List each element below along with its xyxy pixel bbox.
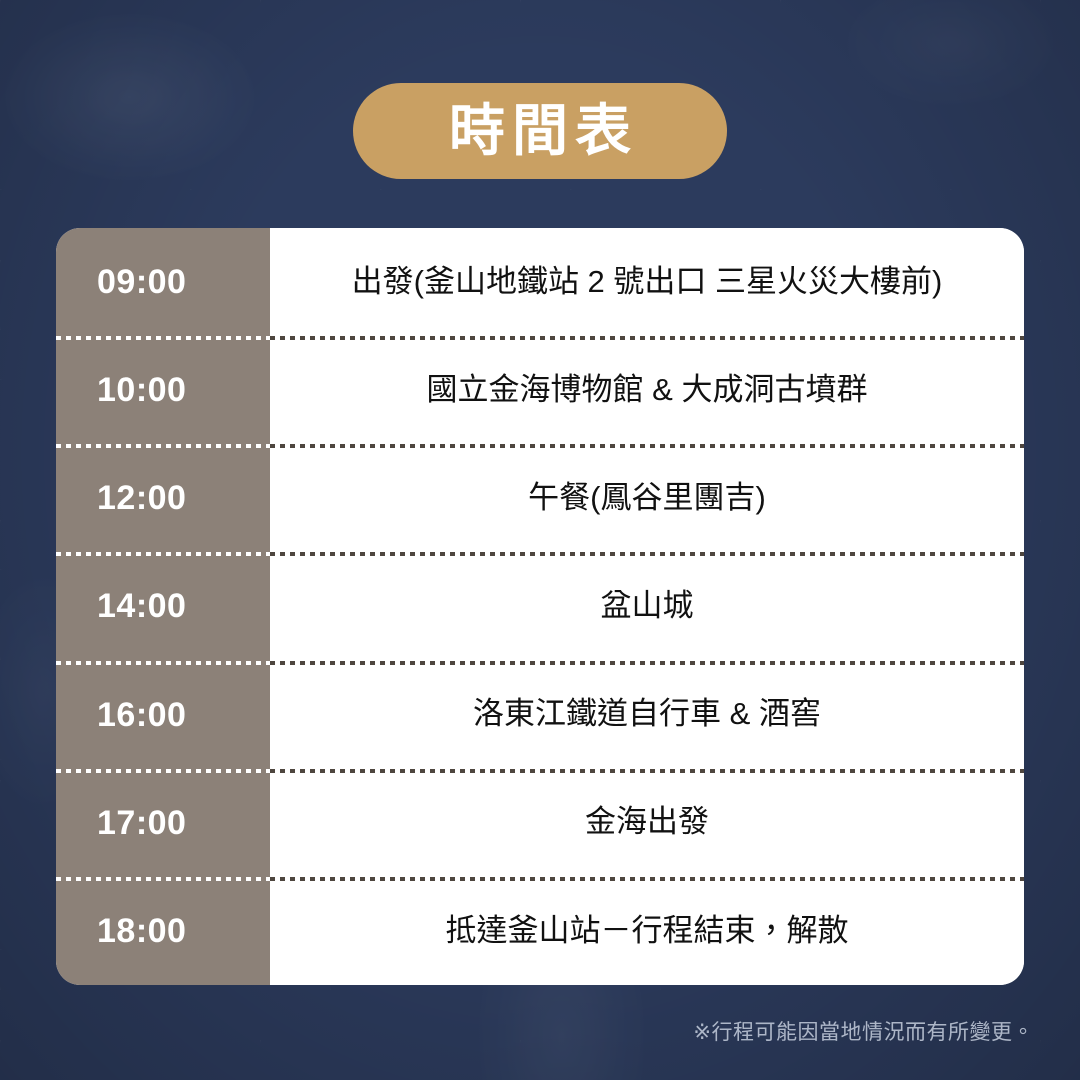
table-cell-time: 16:00 [56,661,270,769]
table-cell-activity: 國立金海博物館 & 大成洞古墳群 [270,336,1024,444]
table-cell-time: 09:00 [56,228,270,336]
table-row: 12:00 午餐(鳳谷里團吉) [56,444,1024,552]
table-cell-time: 18:00 [56,877,270,985]
activity-label: 盆山城 [601,587,694,626]
footnote-disclaimer: ※行程可能因當地情況而有所變更。 [693,1020,1034,1045]
time-label: 10:00 [97,373,186,407]
time-label: 17:00 [97,806,186,840]
table-cell-activity: 午餐(鳳谷里團吉) [270,444,1024,552]
table-cell-activity: 盆山城 [270,552,1024,660]
activity-label: 出發(釜山地鐵站 2 號出口 三星火災大樓前) [352,263,943,302]
time-label: 09:00 [97,265,186,299]
page-title: 時間表 [442,103,638,159]
table-cell-activity: 金海出發 [270,769,1024,877]
table-row: 09:00 出發(釜山地鐵站 2 號出口 三星火災大樓前) [56,228,1024,336]
table-cell-time: 17:00 [56,769,270,877]
activity-label: 國立金海博物館 & 大成洞古墳群 [427,371,868,410]
activity-label: 洛東江鐵道自行車 & 酒窖 [473,695,821,734]
table-row: 18:00 抵達釜山站－行程結束，解散 [56,877,1024,985]
table-cell-time: 12:00 [56,444,270,552]
table-row: 14:00 盆山城 [56,552,1024,660]
time-label: 18:00 [97,914,186,948]
table-row: 10:00 國立金海博物館 & 大成洞古墳群 [56,336,1024,444]
activity-label: 午餐(鳳谷里團吉) [528,479,766,518]
time-label: 14:00 [97,589,186,623]
table-cell-activity: 出發(釜山地鐵站 2 號出口 三星火災大樓前) [270,228,1024,336]
activity-label: 金海出發 [585,803,709,842]
schedule-table: 09:00 出發(釜山地鐵站 2 號出口 三星火災大樓前) 10:00 國立金海… [56,228,1024,985]
table-cell-time: 14:00 [56,552,270,660]
table-row: 17:00 金海出發 [56,769,1024,877]
table-cell-time: 10:00 [56,336,270,444]
table-cell-activity: 抵達釜山站－行程結束，解散 [270,877,1024,985]
table-row: 16:00 洛東江鐵道自行車 & 酒窖 [56,661,1024,769]
itinerary-poster: 時間表 09:00 出發(釜山地鐵站 2 號出口 三星火災大樓前) 10:00 … [0,0,1080,1080]
page-title-badge: 時間表 [353,83,727,179]
activity-label: 抵達釜山站－行程結束，解散 [446,912,849,951]
time-label: 12:00 [97,481,186,515]
table-cell-activity: 洛東江鐵道自行車 & 酒窖 [270,661,1024,769]
time-label: 16:00 [97,698,186,732]
